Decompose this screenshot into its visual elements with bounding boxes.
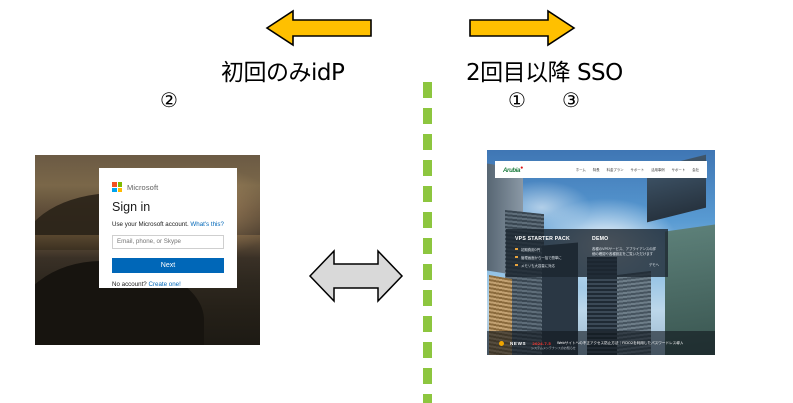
- news-subline: システムメンテナンスのお知らせ: [531, 346, 576, 350]
- nav-item-1[interactable]: 特長: [593, 167, 600, 172]
- label-first-login-idp: 初回のみidP: [221, 53, 344, 87]
- next-button[interactable]: Next: [112, 258, 224, 273]
- step-number-1: ①: [508, 90, 526, 110]
- hero-panel: VPS STARTER PACK 初期費用0円 管理画面から一括で簡単に メモリ…: [506, 229, 668, 277]
- news-ticker: NEWS 2024.7.5 Webサイトへの不正アクセス防止方法｜FIDO2を利…: [487, 331, 715, 355]
- nav-item-6[interactable]: 会社: [692, 167, 699, 172]
- site-logo-label: Arubia: [503, 168, 520, 174]
- hero-left-title: VPS STARTER PACK: [515, 236, 582, 242]
- signin-footer: No account? Create one!: [112, 281, 224, 288]
- microsoft-signin-screenshot: Microsoft Sign in Use your Microsoft acc…: [35, 155, 260, 345]
- label-subsequent-sso: 2回目以降 SSO: [466, 53, 623, 87]
- signin-subtext-label: Use your Microsoft account.: [112, 221, 189, 228]
- create-account-link[interactable]: Create one!: [148, 281, 180, 288]
- email-field[interactable]: [112, 235, 224, 249]
- hero-demo-link[interactable]: デモへ: [592, 262, 659, 267]
- news-bullet-icon: [499, 341, 504, 346]
- nav-item-5[interactable]: サポート: [672, 167, 686, 172]
- microsoft-brand-label: Microsoft: [127, 183, 158, 192]
- green-dashed-divider: [423, 82, 432, 403]
- hero-bullet-list: 初期費用0円 管理画面から一括で簡単に メモリも大容量に対応: [515, 247, 582, 268]
- nav-item-3[interactable]: サポート: [631, 167, 645, 172]
- no-account-label: No account?: [112, 281, 147, 288]
- hero-bullet-2: メモリも大容量に対応: [515, 263, 582, 268]
- nav-item-0[interactable]: ホーム: [576, 167, 586, 172]
- step-number-2: ②: [160, 90, 178, 110]
- microsoft-logo-icon: [112, 182, 122, 192]
- news-headline[interactable]: Webサイトへの不正アクセス防止方法｜FIDO2を利用したパスワードレス導入: [557, 341, 683, 346]
- hero-right-text: 各種のVPSサービス、アプライアンスの詳細の確認や各種設定をご覧いただけます: [592, 247, 659, 257]
- news-date: 2024.7.5: [532, 341, 551, 346]
- gray-double-arrow: [308, 248, 404, 304]
- site-navbar: Arubia● ホーム 特長 料金プラン サポート 活用事例 サポート 会社: [495, 161, 707, 178]
- nav-item-4[interactable]: 活用事例: [651, 167, 665, 172]
- corporate-website-screenshot: Arubia● ホーム 特長 料金プラン サポート 活用事例 サポート 会社 V…: [487, 150, 715, 355]
- signin-subtext: Use your Microsoft account. What's this?: [112, 221, 224, 228]
- orange-left-arrow: [265, 9, 373, 47]
- hero-bullet-1: 管理画面から一括で簡単に: [515, 255, 582, 260]
- step-number-3: ③: [562, 90, 580, 110]
- hero-left-column: VPS STARTER PACK 初期費用0円 管理画面から一括で簡単に メモリ…: [515, 236, 582, 270]
- hero-right-column: DEMO 各種のVPSサービス、アプライアンスの詳細の確認や各種設定をご覧いただ…: [592, 236, 659, 270]
- hero-right-title: DEMO: [592, 236, 659, 242]
- site-logo[interactable]: Arubia●: [503, 165, 523, 174]
- microsoft-brand: Microsoft: [112, 182, 224, 192]
- news-label: NEWS: [510, 341, 526, 346]
- orange-right-arrow: [468, 9, 576, 47]
- site-logo-mark: ●: [520, 165, 523, 171]
- nav-item-2[interactable]: 料金プラン: [607, 167, 624, 172]
- whats-this-link[interactable]: What's this?: [190, 221, 224, 228]
- hero-bullet-0: 初期費用0円: [515, 247, 582, 252]
- signin-card: Microsoft Sign in Use your Microsoft acc…: [99, 168, 237, 288]
- signin-heading: Sign in: [112, 201, 224, 214]
- site-nav-items: ホーム 特長 料金プラン サポート 活用事例 サポート 会社: [576, 167, 699, 172]
